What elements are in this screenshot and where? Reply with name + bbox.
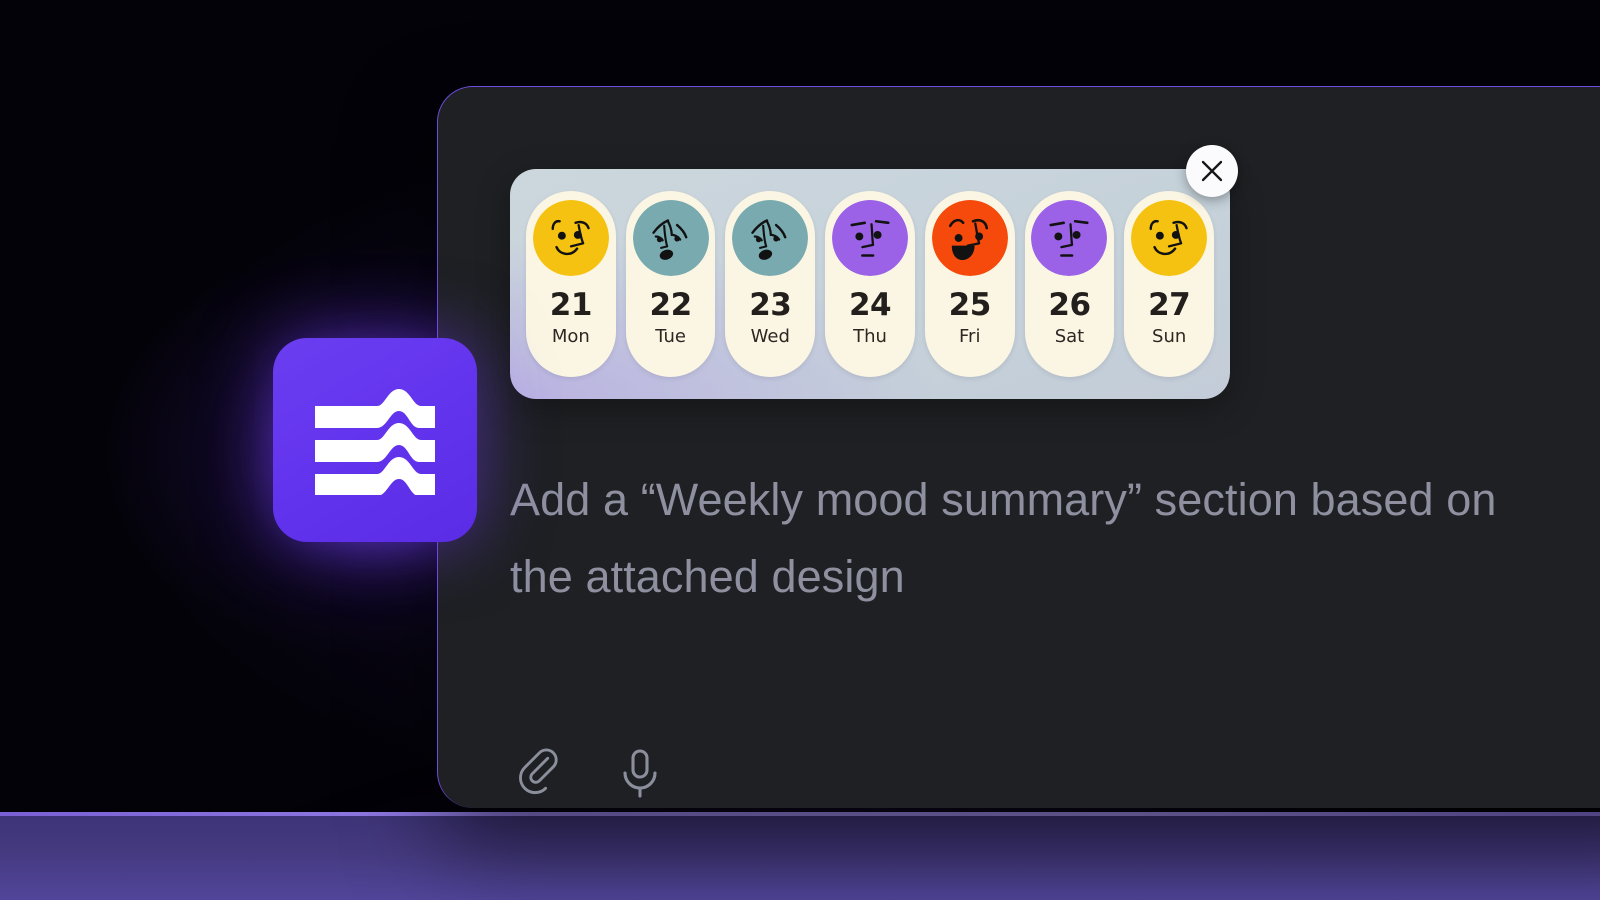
attach-file-button[interactable] — [506, 739, 574, 807]
mood-day-date: 26 — [1048, 290, 1090, 321]
waves-logo-icon — [311, 385, 439, 495]
prompt-text[interactable]: Add a “Weekly mood summary” section base… — [510, 462, 1510, 615]
mood-day-weekday: Sat — [1055, 328, 1085, 346]
mood-face-neutral-icon — [832, 200, 908, 276]
attachment-close-button[interactable] — [1186, 145, 1238, 197]
bottom-surface-band — [0, 812, 1600, 900]
attachment-preview[interactable]: 21 Mon 22 — [510, 169, 1230, 399]
mood-day-pill[interactable]: 27 Sun — [1124, 191, 1214, 377]
mood-day-pill[interactable]: 22 Tue — [626, 191, 716, 377]
mood-face-happy-icon — [533, 200, 609, 276]
mood-day-date: 25 — [949, 290, 991, 321]
composer-toolbar — [506, 739, 674, 807]
mood-day-date: 23 — [749, 290, 791, 321]
mood-day-date: 22 — [650, 290, 692, 321]
mood-day-weekday: Thu — [853, 328, 887, 346]
mood-face-sad-icon — [732, 200, 808, 276]
mood-day-pill[interactable]: 23 Wed — [725, 191, 815, 377]
mood-day-date: 24 — [849, 290, 891, 321]
prompt-composer-panel: 21 Mon 22 — [437, 86, 1600, 808]
mood-face-happy-icon — [1131, 200, 1207, 276]
close-icon — [1199, 158, 1225, 184]
voice-input-button[interactable] — [606, 739, 674, 807]
mood-face-neutral-icon — [1031, 200, 1107, 276]
mood-day-pill[interactable]: 26 Sat — [1025, 191, 1115, 377]
mood-day-weekday: Fri — [959, 328, 980, 346]
mood-face-sad-icon — [633, 200, 709, 276]
mood-day-pill[interactable]: 25 Fri — [925, 191, 1015, 377]
microphone-icon — [615, 746, 665, 800]
mood-day-weekday: Mon — [552, 328, 590, 346]
weekly-mood-card: 21 Mon 22 — [510, 169, 1230, 399]
screen: 21 Mon 22 — [0, 0, 1600, 900]
paperclip-icon — [513, 746, 567, 800]
mood-day-weekday: Sun — [1152, 328, 1186, 346]
mood-day-pill[interactable]: 21 Mon — [526, 191, 616, 377]
mood-day-weekday: Wed — [751, 328, 790, 346]
mood-day-date: 27 — [1148, 290, 1190, 321]
mood-day-pill[interactable]: 24 Thu — [825, 191, 915, 377]
mood-day-weekday: Tue — [655, 328, 686, 346]
bottom-surface-highlight — [0, 812, 1600, 816]
mood-day-date: 21 — [550, 290, 592, 321]
mood-face-excited-icon — [932, 200, 1008, 276]
app-tile[interactable] — [273, 338, 477, 542]
